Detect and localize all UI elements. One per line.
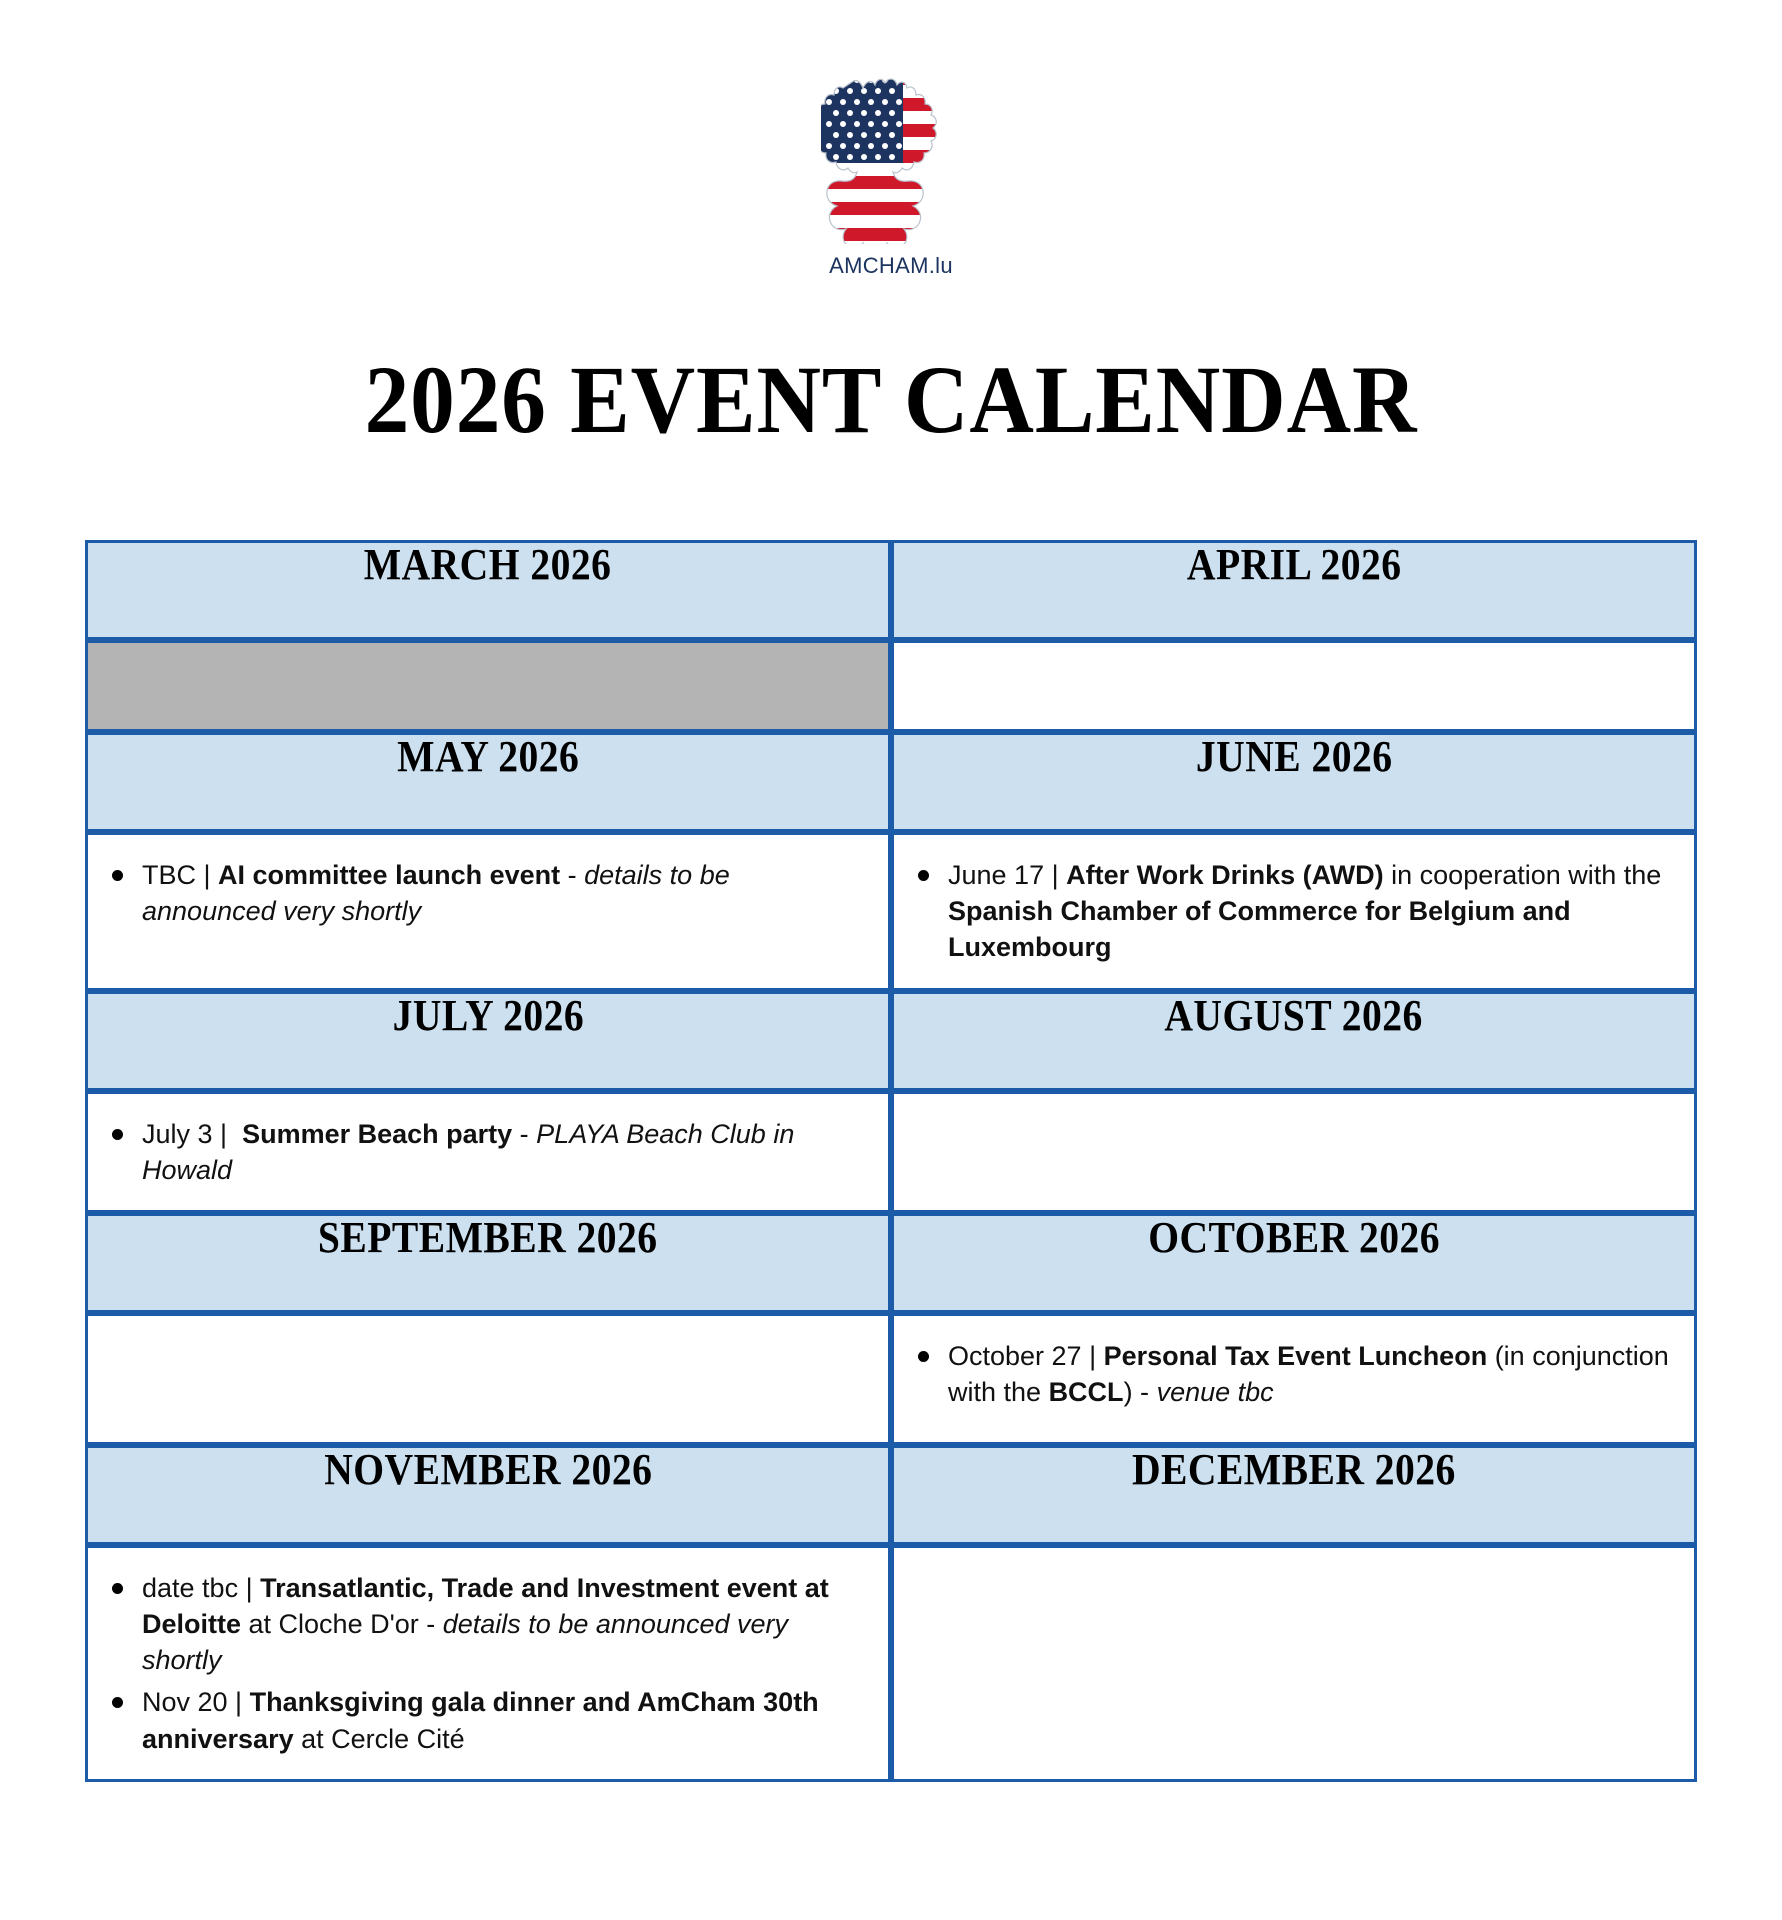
event-item: June 17 | After Work Drinks (AWD) in coo… — [948, 857, 1670, 966]
amcham-logo-block: AMCHAM.lu — [0, 72, 1782, 279]
month-header-row: NOVEMBER 2026DECEMBER 2026 — [85, 1445, 1697, 1545]
month-header-august-2026: AUGUST 2026 — [891, 991, 1697, 1091]
event-text-fragment: in cooperation with the — [1384, 860, 1669, 890]
month-content-september-2026 — [85, 1313, 891, 1445]
month-content-november-2026: date tbc | Transatlantic, Trade and Inve… — [85, 1545, 891, 1782]
month-label: DECEMBER 2026 — [1132, 1448, 1456, 1492]
month-content-june-2026: June 17 | After Work Drinks (AWD) in coo… — [891, 832, 1697, 991]
month-content-row: TBC | AI committee launch event - detail… — [85, 832, 1697, 991]
event-text-fragment: After Work Drinks (AWD) — [1066, 860, 1384, 890]
event-text-fragment: at Cloche D'or - — [241, 1609, 443, 1639]
month-header-row: SEPTEMBER 2026OCTOBER 2026 — [85, 1213, 1697, 1313]
month-header-june-2026: JUNE 2026 — [891, 732, 1697, 832]
event-text-fragment: October 27 | — [948, 1341, 1104, 1371]
amcham-logo-caption: AMCHAM.lu — [0, 253, 1782, 279]
event-text-fragment: June 17 | — [948, 860, 1066, 890]
month-header-may-2026: MAY 2026 — [85, 732, 891, 832]
event-text-fragment: Summer Beach party — [242, 1119, 512, 1149]
event-text-fragment: - — [560, 860, 584, 890]
month-label: MAY 2026 — [397, 735, 579, 779]
event-text-fragment: ) - — [1124, 1377, 1157, 1407]
month-label: OCTOBER 2026 — [1148, 1216, 1440, 1260]
month-label: JULY 2026 — [392, 994, 583, 1038]
month-content-april-2026 — [891, 640, 1697, 732]
month-header-april-2026: APRIL 2026 — [891, 540, 1697, 640]
month-content-march-2026 — [85, 640, 891, 732]
month-label: AUGUST 2026 — [1165, 994, 1423, 1038]
month-label: NOVEMBER 2026 — [324, 1448, 652, 1492]
month-content-may-2026: TBC | AI committee launch event - detail… — [85, 832, 891, 991]
event-calendar-page: AMCHAM.lu 2026 EVENT CALENDAR MARCH 2026… — [0, 0, 1782, 1920]
month-content-row — [85, 640, 1697, 732]
month-header-march-2026: MARCH 2026 — [85, 540, 891, 640]
event-item: date tbc | Transatlantic, Trade and Inve… — [142, 1570, 864, 1679]
month-content-december-2026 — [891, 1545, 1697, 1782]
event-text-fragment: AI committee launch event — [218, 860, 560, 890]
event-item: October 27 | Personal Tax Event Luncheon… — [948, 1338, 1670, 1410]
month-header-november-2026: NOVEMBER 2026 — [85, 1445, 891, 1545]
month-content-july-2026: July 3 | Summer Beach party - PLAYA Beac… — [85, 1091, 891, 1213]
month-content-row: date tbc | Transatlantic, Trade and Inve… — [85, 1545, 1697, 1782]
month-label: SEPTEMBER 2026 — [318, 1216, 658, 1260]
event-list: October 27 | Personal Tax Event Luncheon… — [904, 1338, 1670, 1410]
amcham-lion-usflag-logo — [821, 72, 961, 244]
month-header-september-2026: SEPTEMBER 2026 — [85, 1213, 891, 1313]
event-list: June 17 | After Work Drinks (AWD) in coo… — [904, 857, 1670, 966]
event-text-fragment: at Cercle Cité — [294, 1724, 465, 1754]
event-text-fragment: BCCL — [1049, 1377, 1124, 1407]
month-content-row: July 3 | Summer Beach party - PLAYA Beac… — [85, 1091, 1697, 1213]
calendar-body: MARCH 2026APRIL 2026MAY 2026JUNE 2026TBC… — [85, 540, 1697, 1782]
event-list: TBC | AI committee launch event - detail… — [98, 857, 864, 929]
event-text-fragment: Spanish Chamber of Commerce for Belgium … — [948, 896, 1578, 962]
month-header-row: JULY 2026AUGUST 2026 — [85, 991, 1697, 1091]
month-header-december-2026: DECEMBER 2026 — [891, 1445, 1697, 1545]
event-text-fragment: TBC | — [142, 860, 218, 890]
event-item: TBC | AI committee launch event - detail… — [142, 857, 864, 929]
event-text-fragment: Personal Tax Event Luncheon — [1104, 1341, 1488, 1371]
month-content-august-2026 — [891, 1091, 1697, 1213]
event-item: July 3 | Summer Beach party - PLAYA Beac… — [142, 1116, 864, 1188]
month-label: MARCH 2026 — [364, 543, 612, 587]
month-label: APRIL 2026 — [1187, 543, 1402, 587]
event-list: date tbc | Transatlantic, Trade and Inve… — [98, 1570, 864, 1757]
month-header-row: MAY 2026JUNE 2026 — [85, 732, 1697, 832]
event-text-fragment: - — [512, 1119, 536, 1149]
event-text-fragment: Nov 20 | — [142, 1687, 250, 1717]
month-label: JUNE 2026 — [1196, 735, 1393, 779]
event-text-fragment: date tbc | — [142, 1573, 260, 1603]
month-content-october-2026: October 27 | Personal Tax Event Luncheon… — [891, 1313, 1697, 1445]
event-text-fragment: venue tbc — [1157, 1377, 1274, 1407]
event-text-fragment: July 3 | — [142, 1119, 242, 1149]
event-calendar-table: MARCH 2026APRIL 2026MAY 2026JUNE 2026TBC… — [85, 540, 1697, 1782]
event-item: Nov 20 | Thanksgiving gala dinner and Am… — [142, 1684, 864, 1756]
month-header-july-2026: JULY 2026 — [85, 991, 891, 1091]
month-content-row: October 27 | Personal Tax Event Luncheon… — [85, 1313, 1697, 1445]
month-header-october-2026: OCTOBER 2026 — [891, 1213, 1697, 1313]
page-title: 2026 EVENT CALENDAR — [62, 352, 1719, 448]
month-header-row: MARCH 2026APRIL 2026 — [85, 540, 1697, 640]
event-list: July 3 | Summer Beach party - PLAYA Beac… — [98, 1116, 864, 1188]
